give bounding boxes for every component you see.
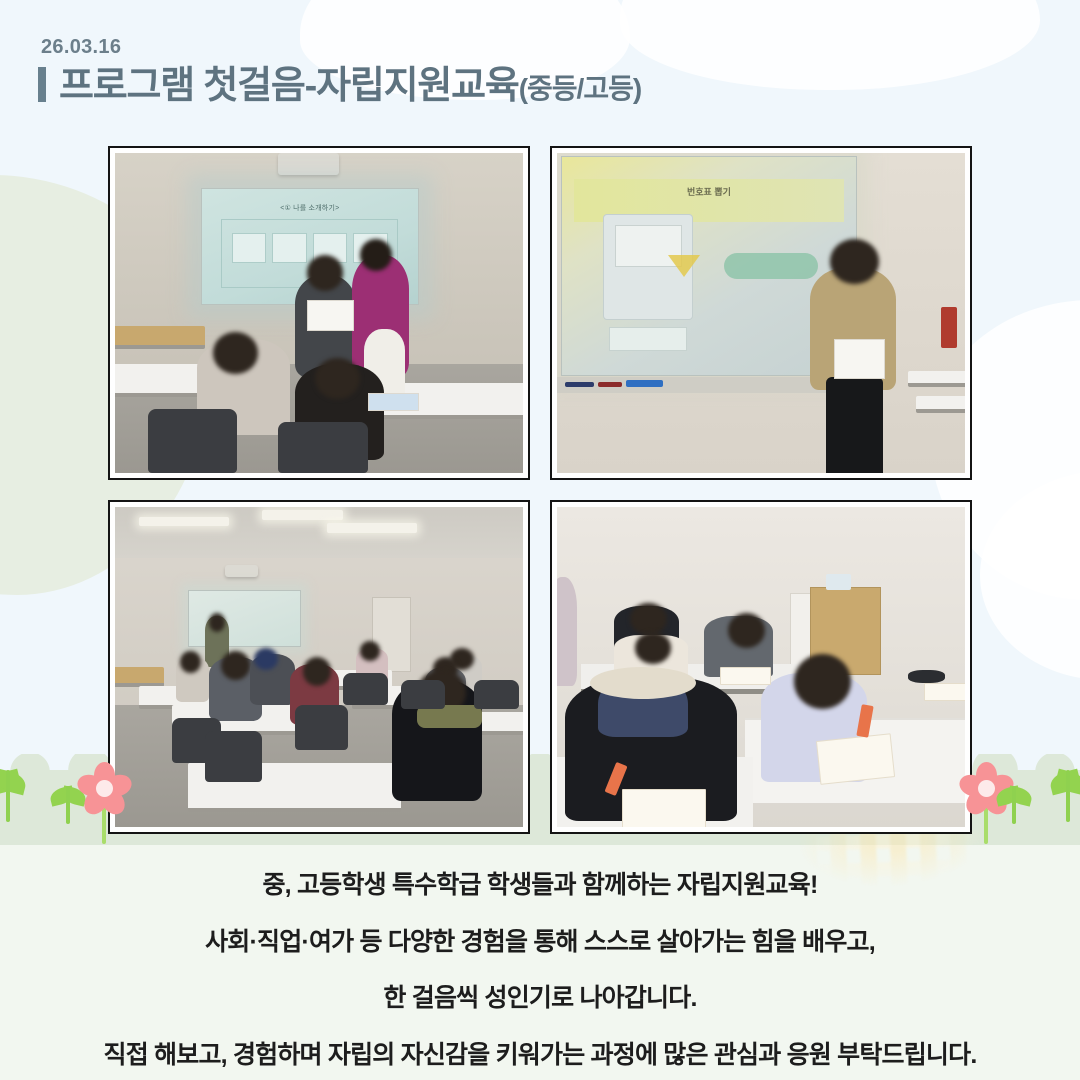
photo-2: 번호표 뽑기 [557,153,965,473]
photo-1: <① 나를 소개하기> [115,153,523,473]
title-text: 프로그램 첫걸음-자립지원교육 [59,67,519,107]
photo-grid: <① 나를 소개하기> [108,146,972,834]
title-accent-bar [38,67,46,102]
sprout-icon-2 [66,786,70,824]
caption-line-1: 중, 고등학생 특수학급 학생들과 함께하는 자립지원교육! [0,862,1080,910]
tissue-box [826,574,850,590]
photo-frame-4[interactable] [550,500,972,834]
header: 26.03.16 프로그램 첫걸음-자립지원교육(중등/고등) [38,36,938,107]
caption-line-4: 직접 해보고, 경험하며 자립의 자신감을 키워가는 과정에 많은 관심과 응원… [0,1032,1080,1080]
sprout-icon-1 [6,770,10,822]
photo-frame-1[interactable]: <① 나를 소개하기> [108,146,530,480]
page-title: 프로그램 첫걸음-자립지원교육(중등/고등) [38,63,938,107]
screen-title-2: 번호표 뽑기 [562,185,856,198]
sprout-icon-4 [1066,770,1070,822]
sprout-icon-3 [1012,786,1016,824]
projector-icon [278,153,339,175]
photo-4 [557,507,965,827]
flower-icon-1 [76,762,132,844]
projector-icon-3 [225,565,258,578]
caption-block: 중, 고등학생 특수학급 학생들과 함께하는 자립지원교육! 사회·직업·여가 … [0,862,1080,1080]
caption-line-3: 한 걸음씩 성인기로 나아갑니다. [0,975,1080,1023]
promo-card: 26.03.16 프로그램 첫걸음-자립지원교육(중등/고등) <① 나를 소개… [0,0,1080,1080]
title-suffix: (중등/고등) [519,67,641,107]
caption-line-2: 사회·직업·여가 등 다양한 경험을 통해 스스로 살아가는 힘을 배우고, [0,919,1080,967]
fire-extinguisher-icon [941,307,957,349]
screen-title-1: <① 나를 소개하기> [202,203,418,213]
photo-frame-2[interactable]: 번호표 뽑기 [550,146,972,480]
photo-frame-3[interactable] [108,500,530,834]
date-label: 26.03.16 [41,36,938,58]
photo-3 [115,507,523,827]
